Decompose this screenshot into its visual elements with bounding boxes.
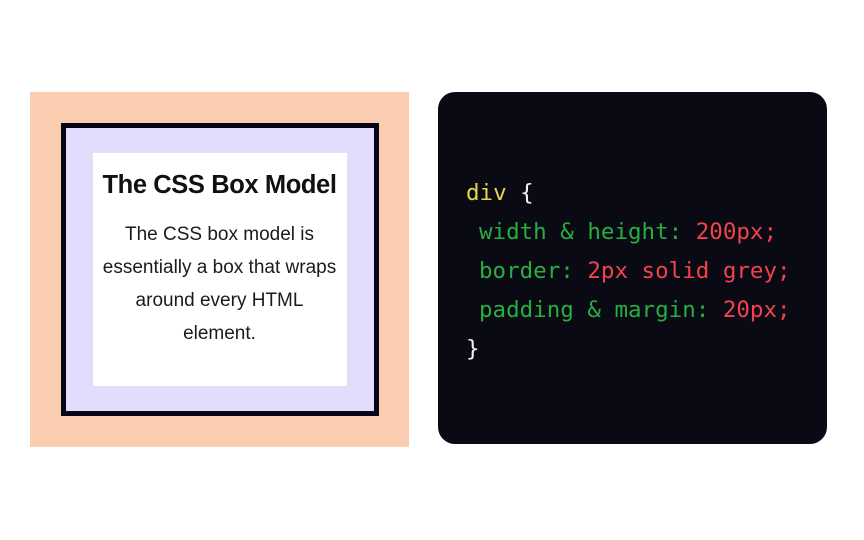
box-model-content-layer: The CSS Box Model The CSS box model is e… (93, 153, 347, 386)
code-line-padding-margin: padding & margin: 20px; (466, 291, 827, 330)
code-token-property: border: (479, 258, 574, 284)
code-token-open-brace: { (507, 180, 534, 206)
code-token-property: width & height: (479, 219, 682, 245)
code-token-property: padding & margin: (479, 297, 709, 323)
box-model-margin-layer: The CSS Box Model The CSS box model is e… (30, 92, 409, 447)
code-line-selector: div { (466, 174, 827, 213)
code-token-value: 200px; (682, 219, 777, 245)
code-line-border: border: 2px solid grey; (466, 252, 827, 291)
code-line-width-height: width & height: 200px; (466, 213, 827, 252)
css-code-panel: div {width & height: 200px;border: 2px s… (438, 92, 827, 444)
code-token-selector: div (466, 180, 507, 206)
code-token-value: 20px; (709, 297, 790, 323)
box-model-description: The CSS box model is essentially a box t… (102, 218, 338, 350)
css-code-block: div {width & height: 200px;border: 2px s… (466, 174, 827, 369)
code-token-close-brace: } (466, 336, 480, 362)
code-line-close-brace: } (466, 330, 827, 369)
box-model-title: The CSS Box Model (102, 171, 336, 200)
box-model-border-layer: The CSS Box Model The CSS box model is e… (61, 123, 379, 416)
code-token-value: 2px solid grey; (574, 258, 791, 284)
